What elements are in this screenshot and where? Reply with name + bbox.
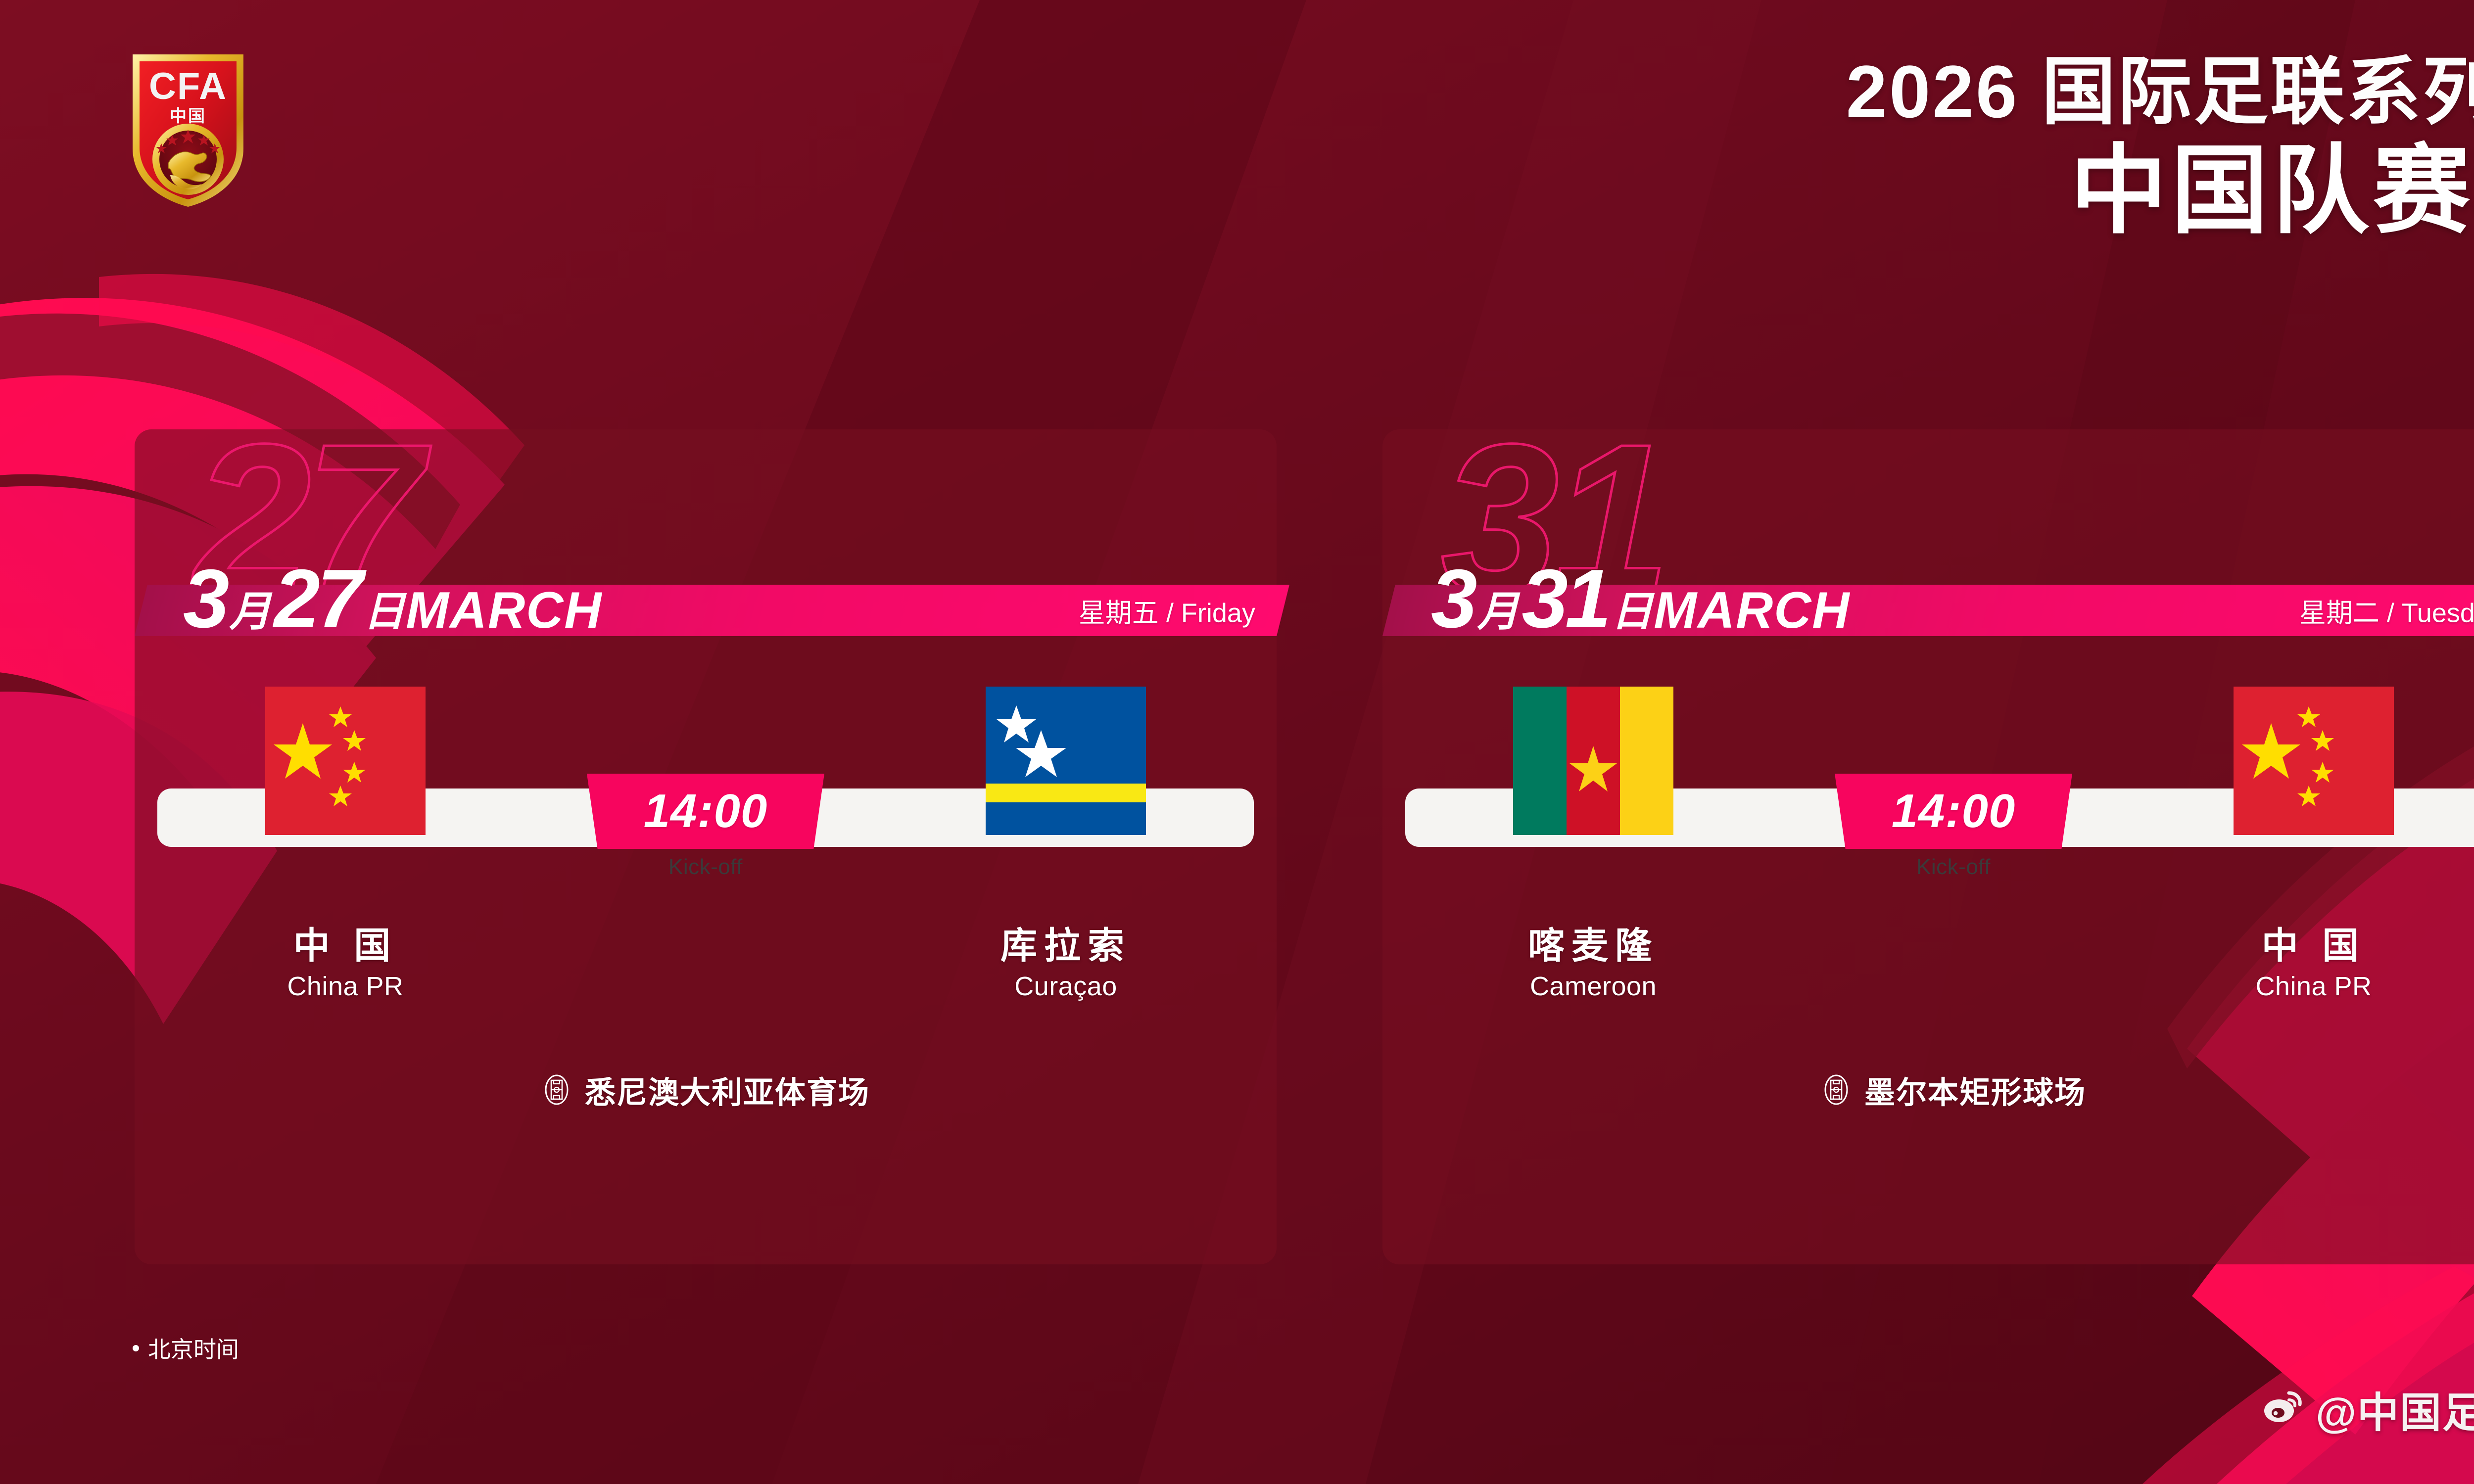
date-month: 3 [183,557,226,640]
flag-china-icon [2234,687,2394,835]
team-away-en: Curaçao [927,971,1204,1002]
venue-row: 墨尔本矩形球场 [1382,1067,2474,1112]
team-home-en: China PR [207,971,484,1002]
match-card[interactable]: 31 星期二 / Tuesday 3 月 31 日 MARCH [1382,429,2474,1264]
date-day: 27 [274,557,360,640]
weekday-label: 星期五 / Friday [1079,591,1255,630]
kickoff-time-box: 14:00 [1835,774,2072,849]
watermark-handle: @中国足球队 [2316,1380,2474,1439]
weekday-label: 星期二 / Tuesday [2299,591,2474,630]
date-day-suffix: 日 [1611,591,1653,632]
month-en-label: MARCH [1654,585,1850,636]
bullet-icon [133,1345,139,1351]
month-en-label: MARCH [406,585,602,636]
venue-label: 悉尼澳大利亚体育场 [585,1067,870,1112]
kickoff-time: 14:00 [644,788,768,835]
flag-cameroon-icon [1513,687,1673,835]
kickoff-time-box: 14:00 [587,774,824,849]
weibo-icon [2260,1382,2306,1438]
date-month-suffix: 月 [229,591,271,632]
team-away-cn: 中 国 [2175,924,2452,967]
team-home: 喀麦隆 Cameroon [1455,924,1732,1002]
match-row: 14:00 Kick-off [1382,687,2474,855]
flag-china-icon [265,687,426,835]
match-card[interactable]: 27 星期五 / Friday 3 月 27 日 MARCH [135,429,1277,1264]
timezone-label: 北京时间 [148,1332,239,1364]
team-home-cn: 中 国 [207,924,484,967]
kickoff-block: 14:00 Kick-off [1830,774,2077,880]
venue-row: 悉尼澳大利亚体育场 [135,1067,1277,1112]
team-home: 中 国 China PR [207,924,484,1002]
date-month-suffix: 月 [1477,591,1519,632]
kickoff-label: Kick-off [1830,855,2077,880]
date-day-suffix: 日 [363,591,405,632]
team-away: 中 国 China PR [2175,924,2452,1002]
team-home-cn: 喀麦隆 [1455,924,1732,967]
date-month: 3 [1431,557,1474,640]
date-label: 3 月 31 日 MARCH [1431,557,1850,640]
stadium-icon [541,1074,572,1105]
team-names: 喀麦隆 Cameroon 中 国 China PR [1382,924,2474,1043]
date-day: 31 [1522,557,1608,640]
kickoff-label: Kick-off [582,855,829,880]
watermark: @中国足球队 [2260,1380,2474,1439]
team-away: 库拉索 Curaçao [927,924,1204,1002]
flag-curacao-icon [986,687,1146,835]
match-cards-container: 27 星期五 / Friday 3 月 27 日 MARCH [0,0,2474,1484]
team-names: 中 国 China PR 库拉索 Curaçao [135,924,1277,1043]
date-label: 3 月 27 日 MARCH [183,557,602,640]
team-away-cn: 库拉索 [927,924,1204,967]
stadium-icon [1821,1074,1852,1105]
team-home-en: Cameroon [1455,971,1732,1002]
match-row: 14:00 Kick-off [135,687,1277,855]
kickoff-time: 14:00 [1892,788,2016,835]
team-away-en: China PR [2175,971,2452,1002]
timezone-note: 北京时间 [133,1332,239,1364]
kickoff-block: 14:00 Kick-off [582,774,829,880]
venue-label: 墨尔本矩形球场 [1864,1067,2086,1112]
